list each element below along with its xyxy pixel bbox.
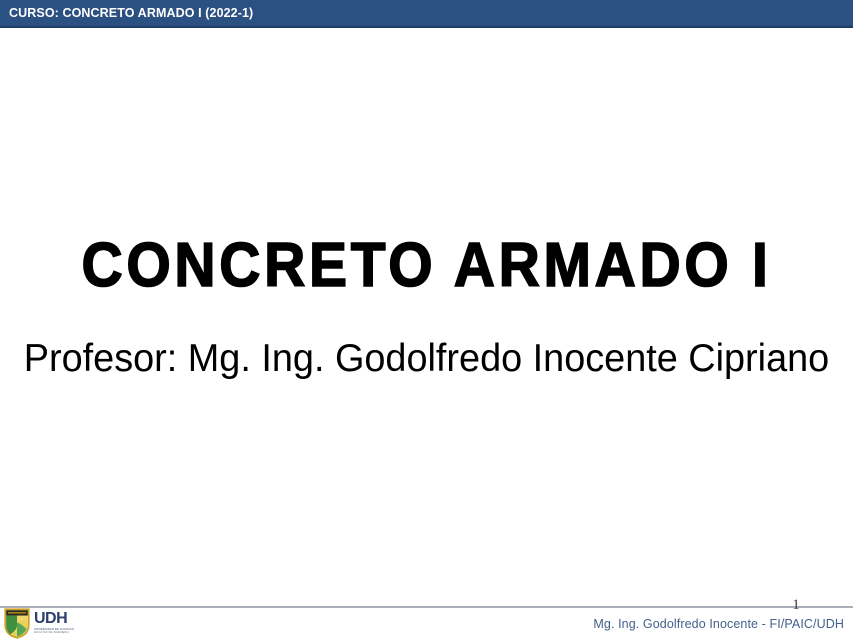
shield-crest-icon [4, 608, 30, 639]
course-title-label: CURSO: CONCRETO ARMADO I (2022-1) [9, 6, 253, 20]
udh-faculty-line: FACULTAD DE INGENIERIA [34, 632, 74, 634]
page-number: 1 [770, 598, 822, 613]
udh-wordmark: UDH UNIVERSIDAD DE HUANUCO FACULTAD DE I… [34, 611, 74, 635]
udh-logo: UDH UNIVERSIDAD DE HUANUCO FACULTAD DE I… [4, 606, 80, 640]
slide-main-title: CONCRETO ARMADO I [34, 233, 819, 298]
slide-content-area: CONCRETO ARMADO I Profesor: Mg. Ing. God… [0, 28, 853, 600]
udh-wordmark-text: UDH [34, 611, 74, 627]
slide-subtitle-professor: Profesor: Mg. Ing. Godolfredo Inocente C… [13, 338, 840, 381]
slide-header-bar: CURSO: CONCRETO ARMADO I (2022-1) [0, 0, 853, 28]
footer-credit-label: Mg. Ing. Godolfredo Inocente - FI/PAIC/U… [593, 617, 844, 631]
footer-divider [0, 606, 853, 608]
